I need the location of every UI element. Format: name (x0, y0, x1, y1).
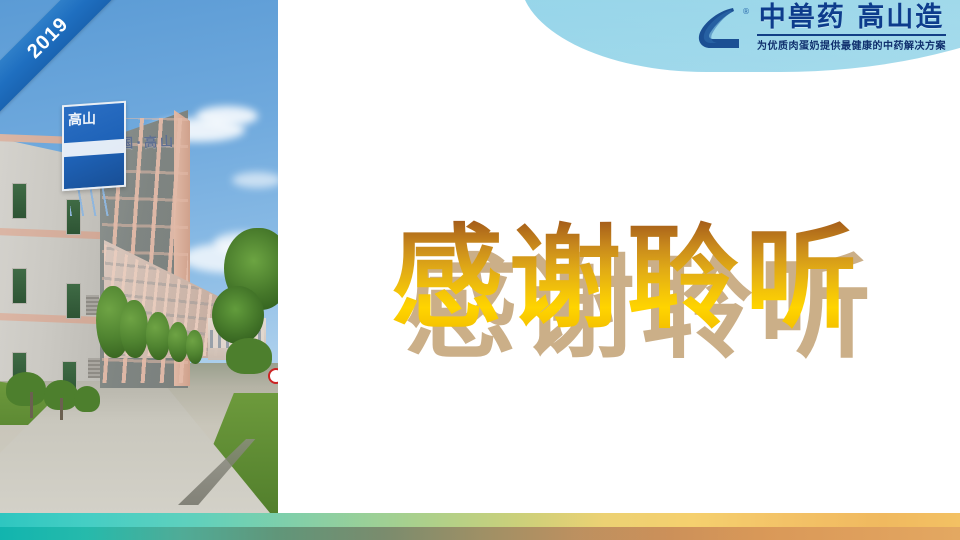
billboard-text: 高山 (68, 109, 120, 129)
presentation-slide: 中国·高山 高山 2019 (0, 0, 960, 540)
title-area: 感谢聆听 感谢聆听 (278, 0, 960, 513)
window (12, 268, 27, 304)
tree (212, 286, 264, 344)
cloud (232, 172, 278, 188)
sapling (60, 398, 63, 420)
sapling (30, 392, 33, 418)
tree (120, 300, 148, 358)
title-stack: 感谢聆听 感谢聆听 (391, 188, 863, 350)
tree (186, 330, 203, 364)
wall-vent (88, 358, 101, 378)
cloud (196, 106, 258, 126)
shrub (226, 338, 272, 374)
page-title: 感谢聆听 (391, 188, 863, 350)
shrub (6, 372, 46, 406)
rooftop-billboard: 高山 (62, 101, 126, 191)
tree (168, 322, 188, 362)
footer-gradient-band-shadow (0, 527, 960, 540)
window (12, 183, 27, 219)
road-sign-icon (268, 368, 278, 384)
tree (146, 312, 170, 360)
factory-campus-photo: 中国·高山 高山 2019 (0, 0, 278, 513)
billboard-band (64, 139, 124, 157)
window (66, 283, 81, 319)
shrub (74, 386, 100, 412)
